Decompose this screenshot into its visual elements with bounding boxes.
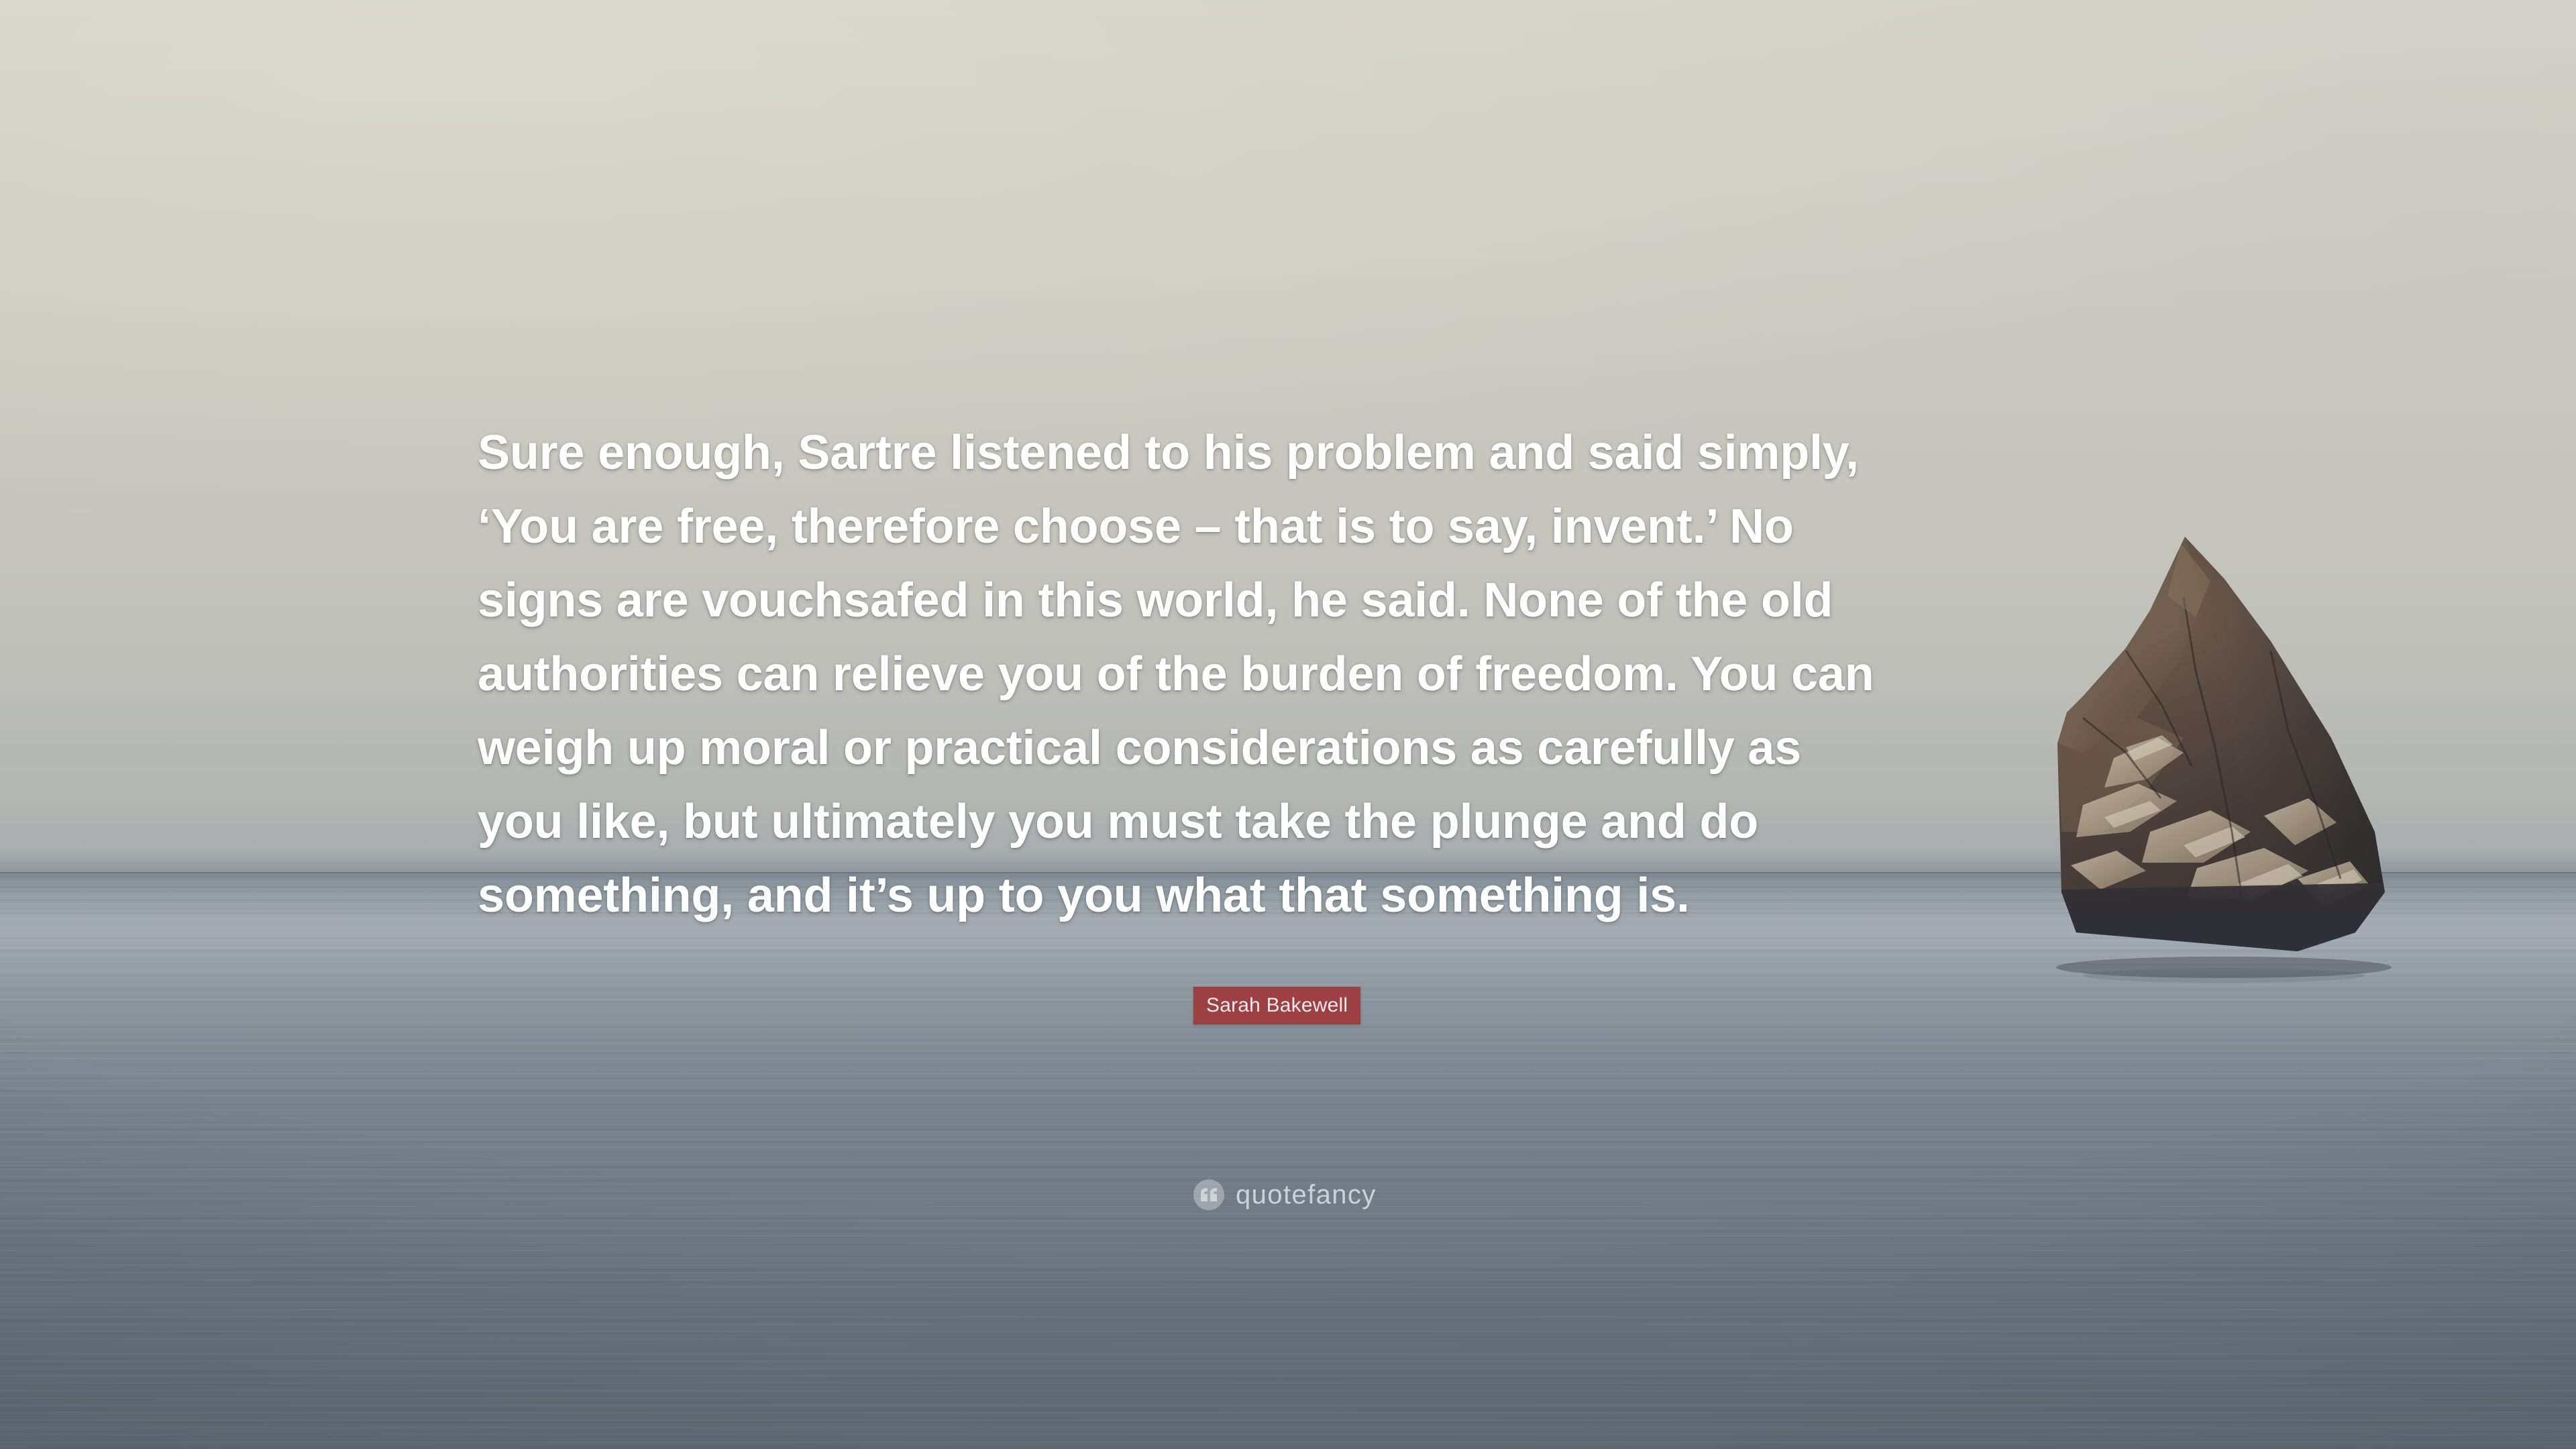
quote-line: authorities can relieve you of the burde… — [478, 637, 2108, 711]
quote-line: signs are vouchsafed in this world, he s… — [478, 563, 2108, 637]
quote-line: you like, but ultimately you must take t… — [478, 785, 2108, 859]
author-name: Sarah Bakewell — [1206, 996, 1348, 1016]
quote-line: weigh up moral or practical consideratio… — [478, 711, 2108, 785]
quote-text: Sure enough, Sartre listened to his prob… — [478, 416, 2108, 932]
quote-line: Sure enough, Sartre listened to his prob… — [478, 416, 2108, 490]
watermark-brand: quotefancy — [1236, 1181, 1377, 1208]
double-quote-icon — [1193, 1179, 1224, 1210]
quote-line: ‘You are free, therefore choose – that i… — [478, 490, 2108, 563]
quotefancy-watermark[interactable]: quotefancy — [1193, 1179, 1377, 1210]
quote-line: something, and it’s up to you what that … — [478, 859, 2108, 932]
author-badge[interactable]: Sarah Bakewell — [1193, 987, 1360, 1024]
quote-image-canvas: Sure enough, Sartre listened to his prob… — [0, 0, 2576, 1449]
